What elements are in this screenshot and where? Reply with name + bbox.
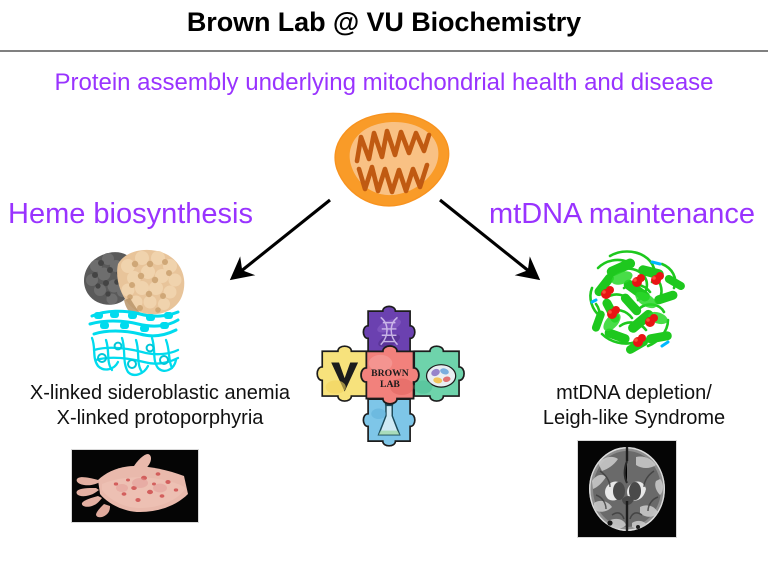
caption-heme-line1: X-linked sideroblastic anemia <box>0 381 320 406</box>
caption-heme-diseases: X-linked sideroblastic anemia X-linked p… <box>0 381 320 431</box>
brown-lab-puzzle-logo: BROWN LAB <box>312 305 468 461</box>
header-divider <box>0 50 768 52</box>
arrow-to-heme-biosynthesis <box>240 200 330 272</box>
hand-skin-lesions-photo <box>71 449 199 523</box>
brain-mri-axial-photo <box>577 440 677 538</box>
logo-text-line2: LAB <box>380 379 400 390</box>
heme-biosynthesis-protein-structure <box>70 242 195 378</box>
page-title: Brown Lab @ VU Biochemistry <box>0 5 768 39</box>
mtdna-maintenance-protein-structure <box>580 242 692 378</box>
caption-heme-line2: X-linked protoporphyria <box>0 406 320 431</box>
caption-mtdna-diseases: mtDNA depletion/ Leigh-like Syndrome <box>500 381 768 431</box>
puzzle-piece-pink-center: BROWN LAB <box>361 346 419 404</box>
caption-mtdna-line1: mtDNA depletion/ <box>500 381 768 406</box>
section-heading-heme-biosynthesis: Heme biosynthesis <box>8 197 253 231</box>
section-heading-mtdna-maintenance: mtDNA maintenance <box>489 197 755 231</box>
caption-mtdna-line2: Leigh-like Syndrome <box>500 406 768 431</box>
logo-text-line1: BROWN <box>371 368 409 379</box>
mitochondrion-illustration <box>325 107 455 213</box>
poster-slide: Brown Lab @ VU Biochemistry Protein asse… <box>0 0 768 576</box>
page-subtitle: Protein assembly underlying mitochondria… <box>0 68 768 98</box>
